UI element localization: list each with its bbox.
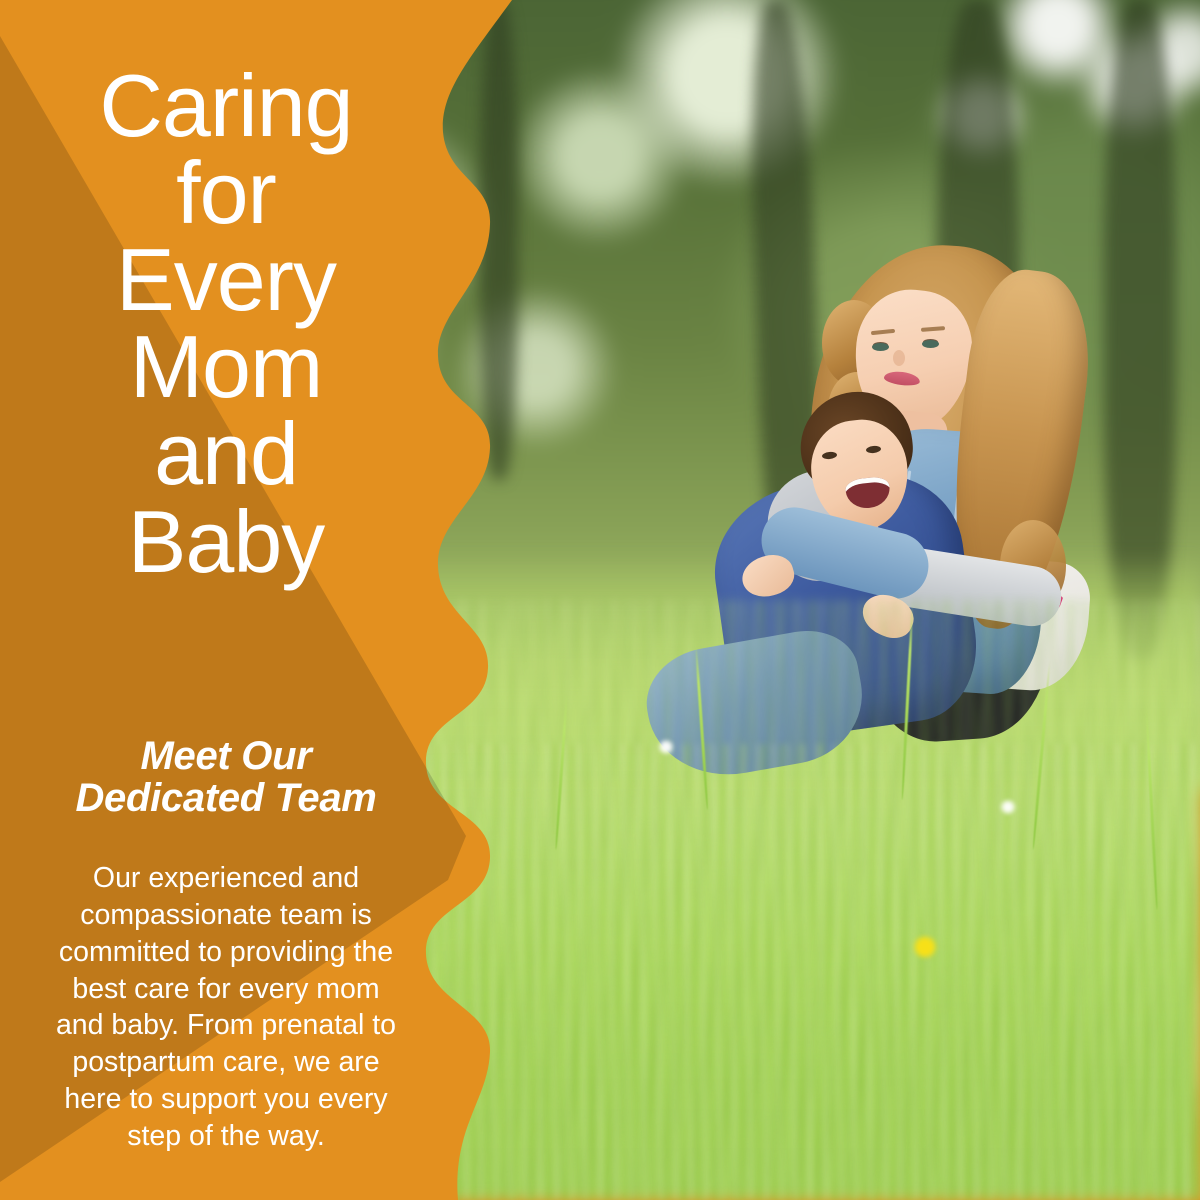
section-subheading: Meet Our Dedicated Team: [51, 735, 401, 821]
page-title: Caring for Every Mom and Baby: [66, 62, 386, 585]
text-column: Caring for Every Mom and Baby Meet Our D…: [0, 0, 452, 1200]
body-paragraph: Our experienced and compassionate team i…: [50, 860, 402, 1154]
poster-canvas: Caring for Every Mom and Baby Meet Our D…: [0, 0, 1200, 1200]
